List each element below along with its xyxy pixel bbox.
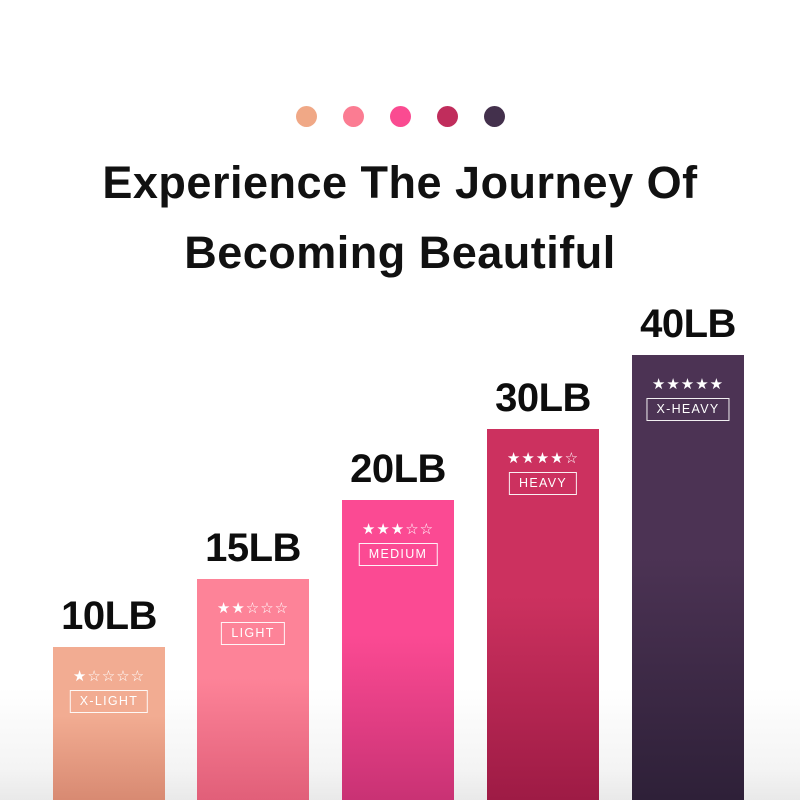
- bar-40lb-group: ★★★★★X-HEAVY40LB: [632, 293, 744, 800]
- bar-10lb-star-rating: ★☆☆☆☆: [73, 669, 145, 684]
- bar-40lb[interactable]: ★★★★★X-HEAVY: [632, 355, 744, 800]
- bar-40lb-badge: ★★★★★X-HEAVY: [646, 377, 729, 421]
- bar-30lb-tier-label: HEAVY: [509, 472, 577, 495]
- bar-40lb-weight-label: 40LB: [640, 302, 736, 347]
- bar-10lb-tier-label: X-LIGHT: [70, 690, 148, 713]
- bar-15lb-tier-label: LIGHT: [221, 622, 284, 645]
- bar-20lb-tier-label: MEDIUM: [359, 543, 438, 566]
- bar-10lb-group: ★☆☆☆☆X-LIGHT10LB: [53, 585, 165, 800]
- bar-15lb[interactable]: ★★☆☆☆LIGHT: [197, 579, 309, 800]
- bar-15lb-badge: ★★☆☆☆LIGHT: [217, 601, 289, 645]
- bar-15lb-weight-label: 15LB: [205, 526, 301, 571]
- bar-20lb-star-rating: ★★★☆☆: [362, 522, 434, 537]
- bar-10lb[interactable]: ★☆☆☆☆X-LIGHT: [53, 647, 165, 800]
- product-infographic-poster: Experience The Journey Of Becoming Beaut…: [0, 0, 800, 800]
- resistance-bar-chart: ★☆☆☆☆X-LIGHT10LB★★☆☆☆LIGHT15LB★★★☆☆MEDIU…: [0, 0, 800, 800]
- bar-30lb[interactable]: ★★★★☆HEAVY: [487, 429, 599, 800]
- bar-10lb-badge: ★☆☆☆☆X-LIGHT: [70, 669, 148, 713]
- bar-40lb-star-rating: ★★★★★: [652, 377, 724, 392]
- bar-30lb-badge: ★★★★☆HEAVY: [507, 451, 579, 495]
- bar-40lb-tier-label: X-HEAVY: [646, 398, 729, 421]
- bar-20lb-group: ★★★☆☆MEDIUM20LB: [342, 438, 454, 800]
- bar-30lb-star-rating: ★★★★☆: [507, 451, 579, 466]
- bar-20lb-badge: ★★★☆☆MEDIUM: [359, 522, 438, 566]
- bar-15lb-star-rating: ★★☆☆☆: [217, 601, 289, 616]
- bar-10lb-weight-label: 10LB: [61, 594, 157, 639]
- bar-30lb-weight-label: 30LB: [495, 376, 591, 421]
- bar-20lb-weight-label: 20LB: [350, 447, 446, 492]
- bar-30lb-group: ★★★★☆HEAVY30LB: [487, 367, 599, 800]
- bar-15lb-group: ★★☆☆☆LIGHT15LB: [197, 517, 309, 800]
- bar-20lb[interactable]: ★★★☆☆MEDIUM: [342, 500, 454, 800]
